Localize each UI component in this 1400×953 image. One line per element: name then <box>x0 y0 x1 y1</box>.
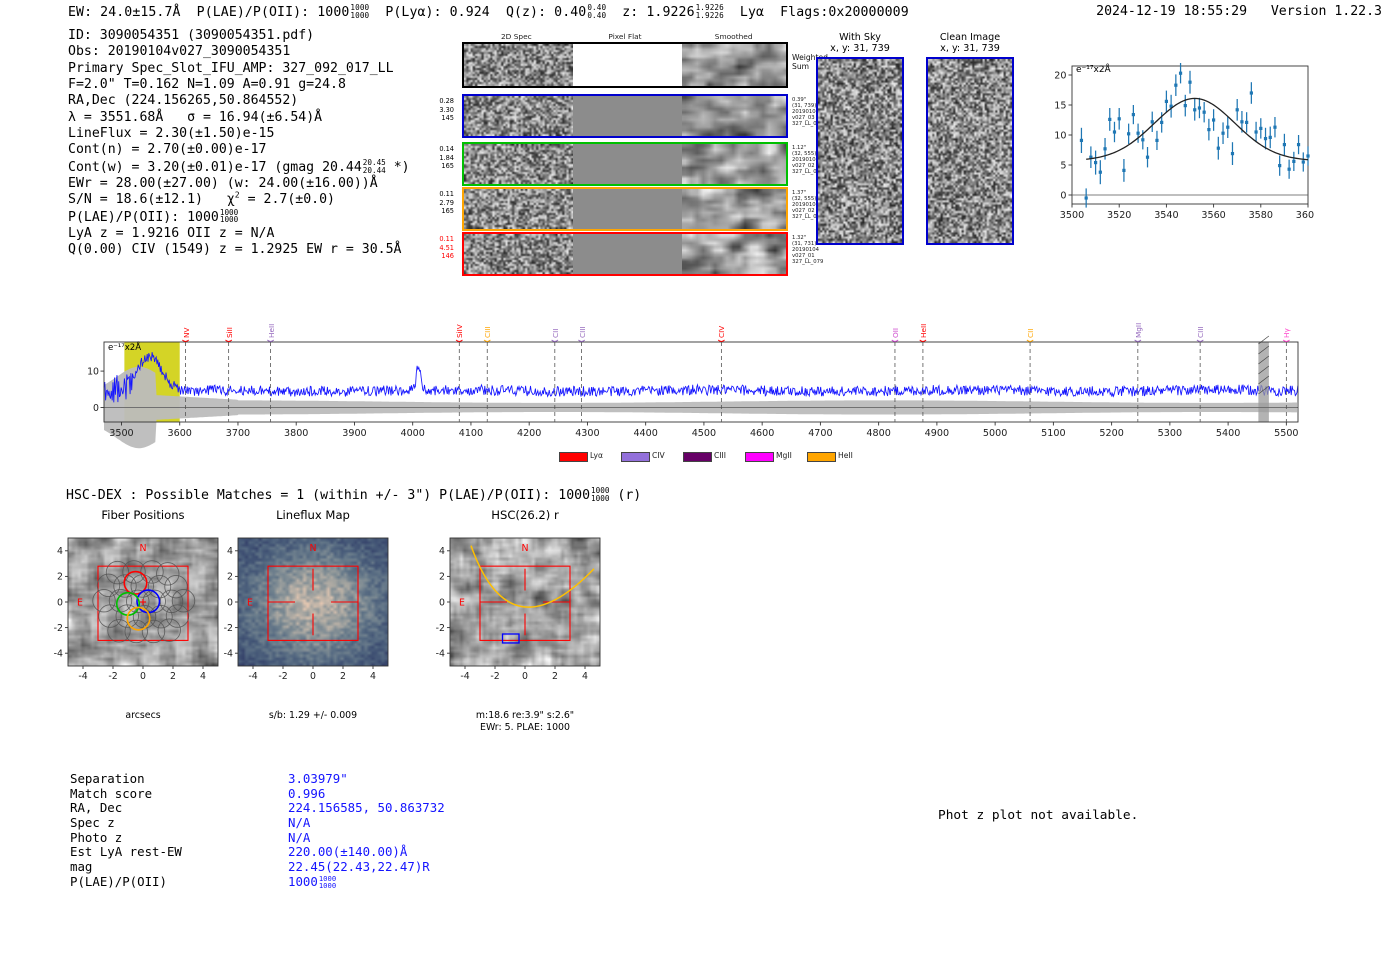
svg-text:3800: 3800 <box>284 428 308 439</box>
info-seeing: F=2.0" T=0.162 N=1.09 A=0.91 g=24.8 <box>68 77 410 93</box>
header-version: Version 1.22.3 <box>1271 4 1382 19</box>
row-value-est-lya-rest-ew: 220.00(±140.00)Å <box>288 845 407 860</box>
cutout-image-0 <box>816 57 904 245</box>
svg-text:20: 20 <box>1054 70 1066 81</box>
info-lineflux: LineFlux = 2.30(±1.50)e-15 <box>68 126 410 142</box>
svg-text:0: 0 <box>57 597 63 608</box>
svg-text:10: 10 <box>87 366 99 377</box>
svg-text:-2: -2 <box>436 623 445 634</box>
seg-smoothed <box>682 96 788 136</box>
info-primary-spec: Primary Spec_Slot_IFU_AMP: 327_092_017_L… <box>68 61 410 77</box>
row-key-separation: Separation <box>70 772 145 787</box>
header-qz: Q(z): 0.40 <box>506 5 586 20</box>
svg-text:3540: 3540 <box>1154 210 1178 221</box>
row-key-ra-dec: RA, Dec <box>70 801 122 816</box>
legend-label-lyα: Lyα <box>590 451 603 460</box>
svg-text:4100: 4100 <box>459 428 483 439</box>
info-wavelength-sigma: λ = 3551.68Å σ = 16.94(±6.54)Å <box>68 110 410 126</box>
svg-text:4400: 4400 <box>633 428 657 439</box>
svg-text:5000: 5000 <box>983 428 1007 439</box>
header-redshift: z: 1.9226 <box>622 5 694 20</box>
svg-text:5200: 5200 <box>1099 428 1123 439</box>
panel-title-hsc-26-2-r: HSC(26.2) r <box>420 508 630 522</box>
panel-caption-0: s/b: 1.29 +/- 0.009 <box>193 710 433 722</box>
header-flags: Flags:0x20000009 <box>780 5 909 20</box>
flux-unit-label: e⁻¹⁷x2Å <box>108 343 141 353</box>
svg-text:3600: 3600 <box>168 428 192 439</box>
panel-title-lineflux-map: Lineflux Map <box>208 508 418 522</box>
svg-text:-2: -2 <box>490 671 499 682</box>
legend-label-heii: HeII <box>838 451 853 460</box>
svg-text:0: 0 <box>140 671 146 682</box>
detector-cutouts: With Skyx, y: 31, 739Clean Imagex, y: 31… <box>810 32 1025 247</box>
row-key-mag: mag <box>70 860 92 875</box>
info-sn-chi2: S/N = 18.6(±12.1) χ2 = 2.7(±0.0) <box>68 192 410 208</box>
svg-text:4900: 4900 <box>925 428 949 439</box>
info-gmag-fraction: 20.4520.44 <box>363 159 386 175</box>
panel-title-2d-spec: 2D Spec <box>476 32 556 41</box>
spec-strip <box>462 232 788 276</box>
emission-line-label-cii-5: CII <box>551 302 560 338</box>
svg-text:N: N <box>521 543 528 554</box>
header-datetime: 2024-12-19 18:55:29 <box>1096 4 1247 19</box>
emission-line-label-nv-0: NV <box>182 302 191 338</box>
svg-text:3600: 3600 <box>1296 210 1314 221</box>
svg-text:-4: -4 <box>460 671 469 682</box>
svg-text:4: 4 <box>582 671 588 682</box>
emission-line-label-hγ-13: Hγ <box>1282 302 1291 338</box>
info-sn: S/N = 18.6(±12.1) <box>68 192 203 207</box>
info-obs: Obs: 20190104v027_3090054351 <box>68 44 410 60</box>
panel-title-pixel-flat: Pixel Flat <box>585 32 665 41</box>
svg-text:4000: 4000 <box>400 428 424 439</box>
info-civ-solution: Q(0.00) CIV (1549) z = 1.2925 EW r = 30.… <box>68 242 410 258</box>
cutout-title-1: Clean Imagex, y: 31, 739 <box>904 32 1036 54</box>
svg-text:2: 2 <box>170 671 176 682</box>
svg-text:-4: -4 <box>436 649 445 660</box>
svg-text:0: 0 <box>522 671 528 682</box>
svg-text:2: 2 <box>227 572 233 583</box>
svg-text:E: E <box>77 597 83 608</box>
cutout-coords: x, y: 31, 739 <box>904 43 1036 54</box>
spec-strip <box>462 94 788 138</box>
svg-text:N: N <box>139 543 146 554</box>
svg-text:4: 4 <box>57 546 63 557</box>
info-redshifts: LyA z = 1.9216 OII z = N/A <box>68 226 410 242</box>
svg-text:5: 5 <box>1060 160 1066 171</box>
emission-line-label-oii-8: OII <box>891 302 900 338</box>
emission-line-label-ciii-6: CIII <box>578 302 587 338</box>
svg-text:3580: 3580 <box>1249 210 1273 221</box>
legend-label-ciii: CIII <box>714 451 726 460</box>
header-plae-label: P(LAE)/P(OII): 1000 <box>197 5 350 20</box>
svg-text:5400: 5400 <box>1216 428 1240 439</box>
svg-text:4700: 4700 <box>808 428 832 439</box>
svg-text:4: 4 <box>200 671 206 682</box>
info-sigma: σ = 16.94(±6.54)Å <box>187 110 322 125</box>
svg-text:-2: -2 <box>54 623 63 634</box>
svg-text:0: 0 <box>227 597 233 608</box>
plae-fraction: 10001000 <box>319 875 336 890</box>
svg-text:15: 15 <box>1054 100 1066 111</box>
hsc-dex-heading: HSC-DEX : Possible Matches = 1 (within +… <box>66 487 641 503</box>
legend-swatch-lyα <box>559 452 588 462</box>
legend-swatch-civ <box>621 452 650 462</box>
fiber-flux-values: 0.114.51146 <box>410 235 454 261</box>
header-plya: P(Lyα): 0.924 <box>385 5 490 20</box>
seg-pixel-flat <box>573 234 682 274</box>
row-value-match-score: 0.996 <box>288 787 325 802</box>
emission-line-label-mgii-11: MgII <box>1134 302 1143 338</box>
info-cont-narrow: Cont(n) = 2.70(±0.00)e-17 <box>68 142 410 158</box>
row-value-spec-z: N/A <box>288 816 310 831</box>
row-key-match-score: Match score <box>70 787 152 802</box>
seg-2d-spec <box>464 44 573 86</box>
photz-unavailable-note: Phot z plot not available. <box>938 808 1138 823</box>
header-z-fraction: 1.92261.9226 <box>696 4 724 20</box>
svg-text:0: 0 <box>93 403 99 414</box>
svg-text:-2: -2 <box>224 623 233 634</box>
svg-text:5100: 5100 <box>1041 428 1065 439</box>
info-id: ID: 3090054351 (3090054351.pdf) <box>68 28 410 44</box>
row-key-est-lya-rest-ew: Est LyA rest-EW <box>70 845 182 860</box>
legend-label-civ: CIV <box>652 451 665 460</box>
svg-text:0: 0 <box>439 597 445 608</box>
svg-text:0: 0 <box>310 671 316 682</box>
row-value-separation: 3.03979" <box>288 772 348 787</box>
svg-text:5300: 5300 <box>1158 428 1182 439</box>
svg-text:4: 4 <box>227 546 233 557</box>
svg-text:-4: -4 <box>78 671 87 682</box>
svg-text:3500: 3500 <box>1060 210 1084 221</box>
emission-line-label-heii-2: HeII <box>267 302 276 338</box>
svg-text:3500: 3500 <box>109 428 133 439</box>
seg-2d-spec <box>464 189 573 229</box>
seg-smoothed <box>682 44 788 86</box>
svg-text:N: N <box>309 543 316 554</box>
seg-pixel-flat <box>573 96 682 136</box>
row-value-photo-z: N/A <box>288 831 310 846</box>
seg-smoothed <box>682 189 788 229</box>
svg-text:4: 4 <box>370 671 376 682</box>
emission-line-label-ciii-12: CIII <box>1196 302 1205 338</box>
info-cont-wide: Cont(w) = 3.20(±0.01)e-17 (gmag 20.4420.… <box>68 159 410 176</box>
twod-spectrum-panels: 2D SpecPixel FlatSmoothedWeightedSum0.28… <box>420 32 800 254</box>
panel-caption-0: m:18.6 re:3.9" s:2.6" <box>405 710 645 722</box>
svg-text:3520: 3520 <box>1107 210 1131 221</box>
emission-line-label-siii-1: SiII <box>225 302 234 338</box>
seg-2d-spec <box>464 96 573 136</box>
spec-strip <box>462 42 788 88</box>
fiber-flux-values: 0.141.84165 <box>410 145 454 171</box>
svg-text:E: E <box>247 597 253 608</box>
svg-text:2: 2 <box>57 572 63 583</box>
hscdex-plae-fraction: 10001000 <box>591 487 609 503</box>
info-lambda: λ = 3551.68Å <box>68 110 163 125</box>
seg-pixel-flat <box>573 189 682 229</box>
svg-text:-4: -4 <box>54 649 63 660</box>
emission-line-label-ciii-4: CIII <box>483 302 492 338</box>
svg-text:2: 2 <box>552 671 558 682</box>
emission-line-label-cii-10: CII <box>1026 302 1035 338</box>
seg-smoothed <box>682 234 788 274</box>
svg-text:4: 4 <box>439 546 445 557</box>
info-chi2: χ2 = 2.7(±0.0) <box>227 192 335 207</box>
svg-text:2: 2 <box>340 671 346 682</box>
svg-text:5500: 5500 <box>1274 428 1298 439</box>
row-key-p-lae-p-oii-: P(LAE)/P(OII) <box>70 875 167 890</box>
svg-text:4600: 4600 <box>750 428 774 439</box>
seg-pixel-flat <box>573 144 682 184</box>
legend-swatch-ciii <box>683 452 712 462</box>
svg-text:4500: 4500 <box>692 428 716 439</box>
svg-text:2: 2 <box>439 572 445 583</box>
svg-text:3900: 3900 <box>342 428 366 439</box>
fiber-flux-values: 0.283.30145 <box>410 97 454 123</box>
svg-text:E: E <box>459 597 465 608</box>
seg-2d-spec <box>464 144 573 184</box>
header-timestamp-version: 2024-12-19 18:55:29 Version 1.22.3 <box>1096 4 1382 19</box>
legend-swatch-mgii <box>745 452 774 462</box>
header-qz-fraction: 0.400.40 <box>587 4 606 20</box>
legend-label-mgii: MgII <box>776 451 792 460</box>
spec-strip <box>462 187 788 231</box>
svg-text:4200: 4200 <box>517 428 541 439</box>
image-panels: Fiber PositionsNE-4-4-2-2002244arcsecsLi… <box>50 508 650 733</box>
seg-smoothed <box>682 144 788 184</box>
info-plae: P(LAE)/P(OII): 100010001000 <box>68 209 410 226</box>
header-ew: EW: 24.0±15.7Å <box>68 5 181 20</box>
svg-text:3700: 3700 <box>226 428 250 439</box>
svg-text:-2: -2 <box>278 671 287 682</box>
svg-text:-4: -4 <box>224 649 233 660</box>
full-spectrum-plot: 0103500360037003800390040004100420043004… <box>78 300 1306 468</box>
flux-unit-label: e⁻¹⁷x2Å <box>1076 65 1111 75</box>
header-plae-fraction: 10001000 <box>350 4 369 20</box>
svg-text:4300: 4300 <box>575 428 599 439</box>
info-radec: RA,Dec (224.156265,50.864552) <box>68 93 410 109</box>
svg-text:4800: 4800 <box>866 428 890 439</box>
legend-swatch-heii <box>807 452 836 462</box>
seg-2d-spec <box>464 234 573 274</box>
row-key-photo-z: Photo z <box>70 831 122 846</box>
emission-line-fit-plot: 05101520350035203540356035803600e⁻¹⁷x2Å <box>1036 58 1314 230</box>
info-plae-fraction: 10001000 <box>220 209 238 225</box>
row-value-mag: 22.45(22.43,22.47)R <box>288 860 430 875</box>
svg-text:-4: -4 <box>248 671 257 682</box>
emission-line-label-heii-9: HeII <box>919 302 928 338</box>
header-line-name: Lyα <box>740 5 764 20</box>
seg-pixel-flat <box>573 44 682 86</box>
emission-line-label-civ-7: CIV <box>717 302 726 338</box>
svg-text:-2: -2 <box>108 671 117 682</box>
spec-strip <box>462 142 788 186</box>
panel-caption-1: EWr: 5. PLAE: 1000 <box>405 722 645 734</box>
row-key-spec-z: Spec z <box>70 816 115 831</box>
cutout-image-1 <box>926 57 1014 245</box>
source-info-block: ID: 3090054351 (3090054351.pdf) Obs: 201… <box>68 28 410 258</box>
emission-line-label-siiv-3: SiIV <box>455 302 464 338</box>
row-value-ra-dec: 224.156585, 50.863732 <box>288 801 445 816</box>
summary-header: EW: 24.0±15.7Å P(LAE)/P(OII): 1000100010… <box>68 4 909 20</box>
svg-text:0: 0 <box>1060 190 1066 201</box>
row-value-p-lae-p-oii-: 100010001000 <box>288 875 336 890</box>
svg-text:10: 10 <box>1054 130 1066 141</box>
panel-title-smoothed: Smoothed <box>694 32 774 41</box>
cutout-name: Clean Image <box>904 32 1036 43</box>
svg-text:3560: 3560 <box>1201 210 1225 221</box>
fiber-flux-values: 0.112.79165 <box>410 190 454 216</box>
